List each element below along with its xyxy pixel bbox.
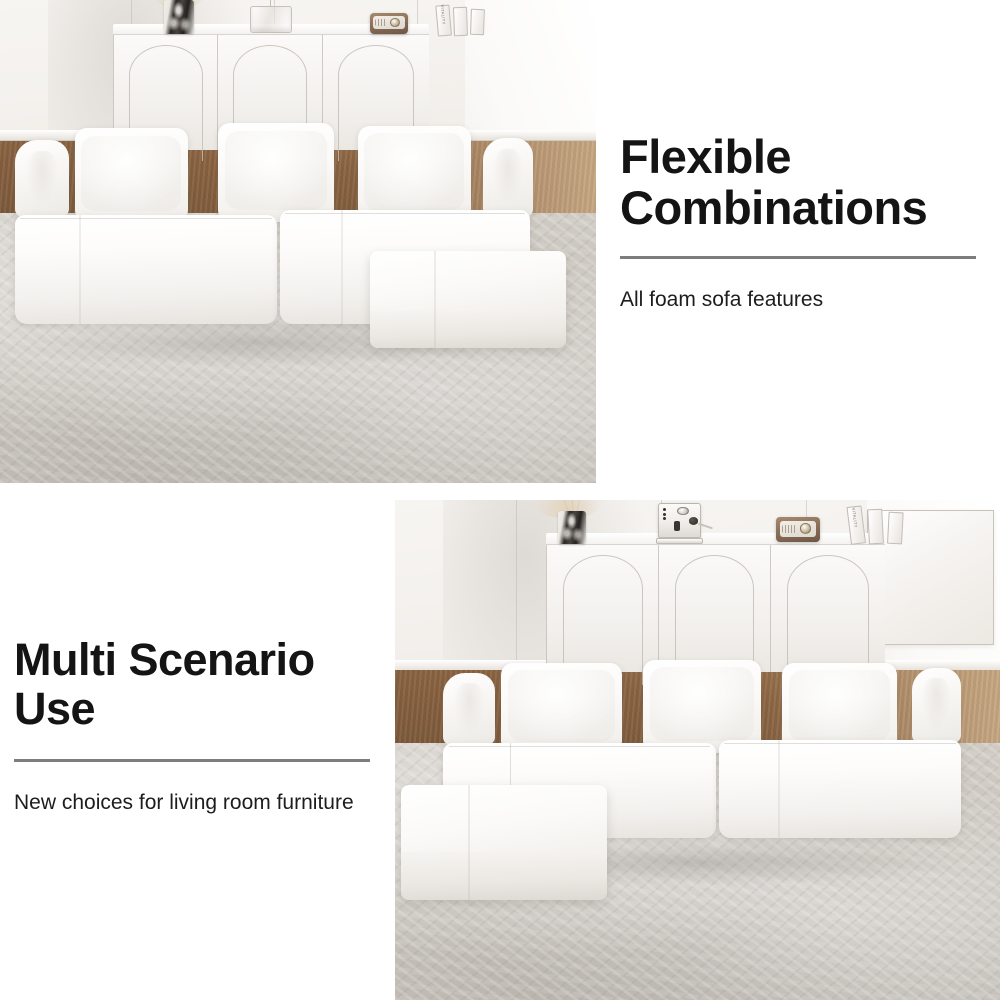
modular-sofa	[395, 500, 1000, 1000]
left-arm-bolster	[443, 673, 494, 746]
feature-text-bottom-left: Multi Scenario Use New choices for livin…	[14, 636, 376, 818]
headline-line-1: Multi Scenario	[14, 636, 376, 685]
seat-module-right	[719, 740, 961, 838]
right-arm-bolster	[483, 138, 534, 218]
living-room-scene-top: VITALITY	[0, 0, 596, 483]
headline-divider	[14, 759, 370, 762]
back-pillow-3	[782, 663, 897, 753]
seat-tufting-line	[20, 218, 272, 219]
seat-tufting-line	[724, 743, 956, 744]
headline-divider	[620, 256, 976, 259]
chaise-front-face	[370, 311, 567, 348]
headline-flexible-combinations: Flexible Combinations	[620, 132, 980, 234]
back-pillow-2	[643, 660, 761, 753]
headline-multi-scenario-use: Multi Scenario Use	[14, 636, 376, 733]
back-pillow-3	[358, 126, 471, 223]
chaise-ottoman	[401, 785, 607, 900]
headline-line-2: Use	[14, 685, 376, 734]
living-room-scene-bottom: VITALITY	[395, 500, 1000, 1000]
product-feature-collage: VITALITY	[0, 0, 1000, 1000]
subtext-new-choices: New choices for living room furniture	[14, 788, 376, 818]
chaise-front-face	[401, 852, 607, 900]
back-pillow-1	[501, 663, 622, 753]
headline-line-1: Flexible	[620, 132, 980, 183]
right-arm-bolster	[912, 668, 960, 743]
seat-module-left	[15, 215, 277, 324]
headline-line-2: Combinations	[620, 183, 980, 234]
chaise-ottoman	[370, 251, 567, 348]
product-photo-top: VITALITY	[0, 0, 596, 483]
seat-tufting-line	[449, 746, 710, 747]
product-photo-bottom: VITALITY	[395, 500, 1000, 1000]
back-pillow-2	[218, 123, 334, 222]
modular-sofa	[0, 0, 596, 483]
seat-tufting-line	[285, 213, 525, 214]
back-pillow-1	[75, 128, 188, 222]
feature-text-top-right: Flexible Combinations All foam sofa feat…	[620, 132, 980, 314]
left-arm-bolster	[15, 140, 69, 217]
subtext-all-foam-sofa-features: All foam sofa features	[620, 285, 980, 315]
